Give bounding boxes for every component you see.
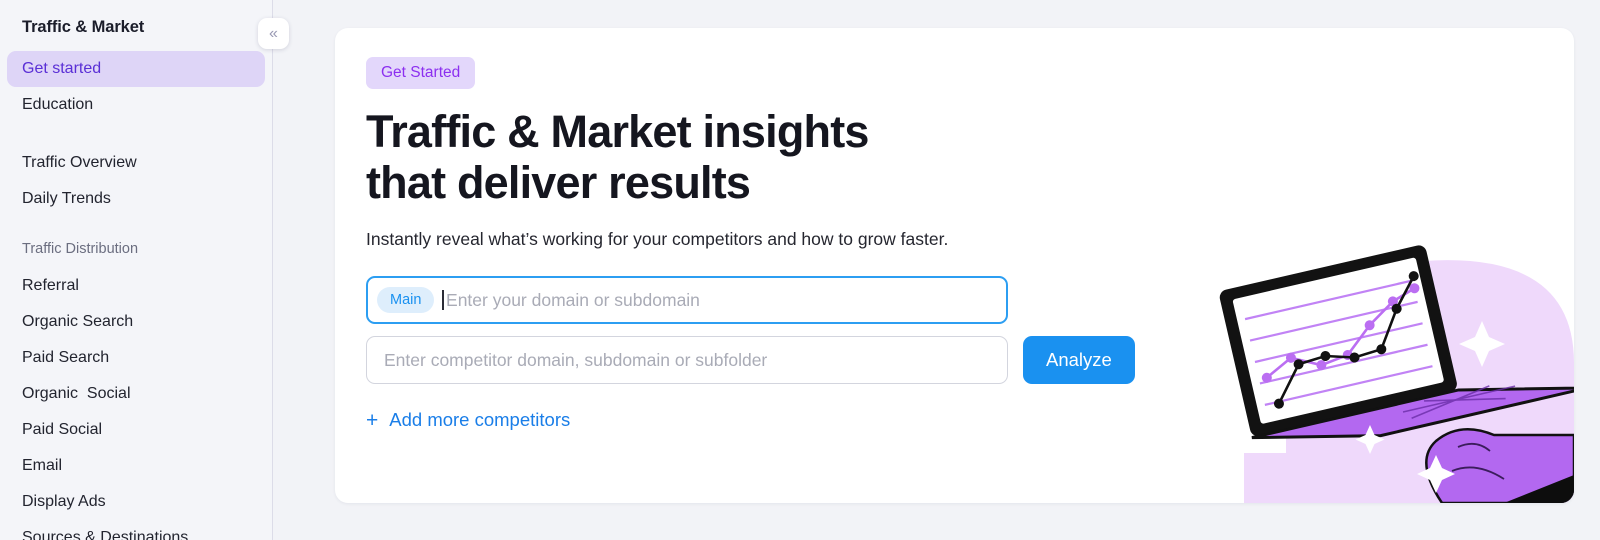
sidebar-item-education[interactable]: Education [0, 87, 272, 123]
main-domain-field[interactable]: Main Enter your domain or subdomain [366, 276, 1008, 324]
sidebar-divider-gap-2 [0, 217, 272, 239]
status-badge: Get Started [366, 57, 475, 89]
sidebar-item-traffic-overview[interactable]: Traffic Overview [0, 145, 272, 181]
sidebar-divider-gap [0, 123, 272, 145]
get-started-card: Get Started Traffic & Market insights th… [335, 28, 1574, 503]
sidebar-title: Traffic & Market [0, 18, 272, 37]
sidebar-item-get-started[interactable]: Get started [7, 51, 265, 87]
page-title-line2: that deliver results [366, 157, 750, 208]
page-title: Traffic & Market insights that deliver r… [366, 106, 1574, 208]
sidebar-item-email[interactable]: Email [0, 448, 272, 484]
main-domain-placeholder: Enter your domain or subdomain [446, 290, 700, 311]
competitor-domain-field[interactable]: Enter competitor domain, subdomain or su… [366, 336, 1008, 384]
sidebar: Traffic & Market Get started Education T… [0, 0, 273, 540]
card-content: Get Started Traffic & Market insights th… [335, 28, 1574, 431]
main-chip: Main [377, 287, 434, 313]
add-more-competitors-link[interactable]: + Add more competitors [366, 409, 570, 431]
main-content: Get Started Traffic & Market insights th… [273, 0, 1600, 540]
sidebar-item-organic-social[interactable]: Organic Social [0, 376, 272, 412]
sidebar-item-referral[interactable]: Referral [0, 268, 272, 304]
sidebar-item-label: Education [22, 96, 93, 113]
sidebar-item-sources-destinations[interactable]: Sources & Destinations [0, 520, 272, 540]
app-root: Traffic & Market Get started Education T… [0, 0, 1600, 540]
sidebar-item-label: Paid Social [22, 421, 102, 438]
sidebar-item-paid-search[interactable]: Paid Search [0, 340, 272, 376]
sidebar-section-traffic-distribution: Traffic Distribution [0, 239, 272, 259]
sidebar-item-label: Organic Social [22, 385, 131, 402]
sidebar-item-label: Organic Search [22, 313, 133, 330]
plus-icon: + [366, 410, 378, 431]
sidebar-item-label: Get started [22, 60, 101, 77]
sidebar-item-label: Sources & Destinations [22, 529, 188, 540]
add-more-competitors-label: Add more competitors [389, 409, 570, 431]
sidebar-item-label: Referral [22, 277, 79, 294]
page-subtitle: Instantly reveal what’s working for your… [366, 227, 1574, 251]
text-caret [442, 290, 444, 310]
chevron-double-left-icon[interactable]: « [258, 18, 289, 49]
sidebar-item-label: Paid Search [22, 349, 109, 366]
sidebar-item-daily-trends[interactable]: Daily Trends [0, 181, 272, 217]
competitor-domain-placeholder: Enter competitor domain, subdomain or su… [384, 350, 767, 371]
sidebar-item-label: Display Ads [22, 493, 106, 510]
sidebar-item-organic-search[interactable]: Organic Search [0, 304, 272, 340]
sidebar-item-paid-social[interactable]: Paid Social [0, 412, 272, 448]
sidebar-item-label: Daily Trends [22, 190, 111, 207]
analyze-button[interactable]: Analyze [1023, 336, 1135, 384]
sidebar-item-display-ads[interactable]: Display Ads [0, 484, 272, 520]
sidebar-item-label: Traffic Overview [22, 154, 137, 171]
sidebar-item-label: Email [22, 457, 62, 474]
competitor-row: Enter competitor domain, subdomain or su… [366, 336, 1574, 384]
page-title-line1: Traffic & Market insights [366, 106, 869, 157]
